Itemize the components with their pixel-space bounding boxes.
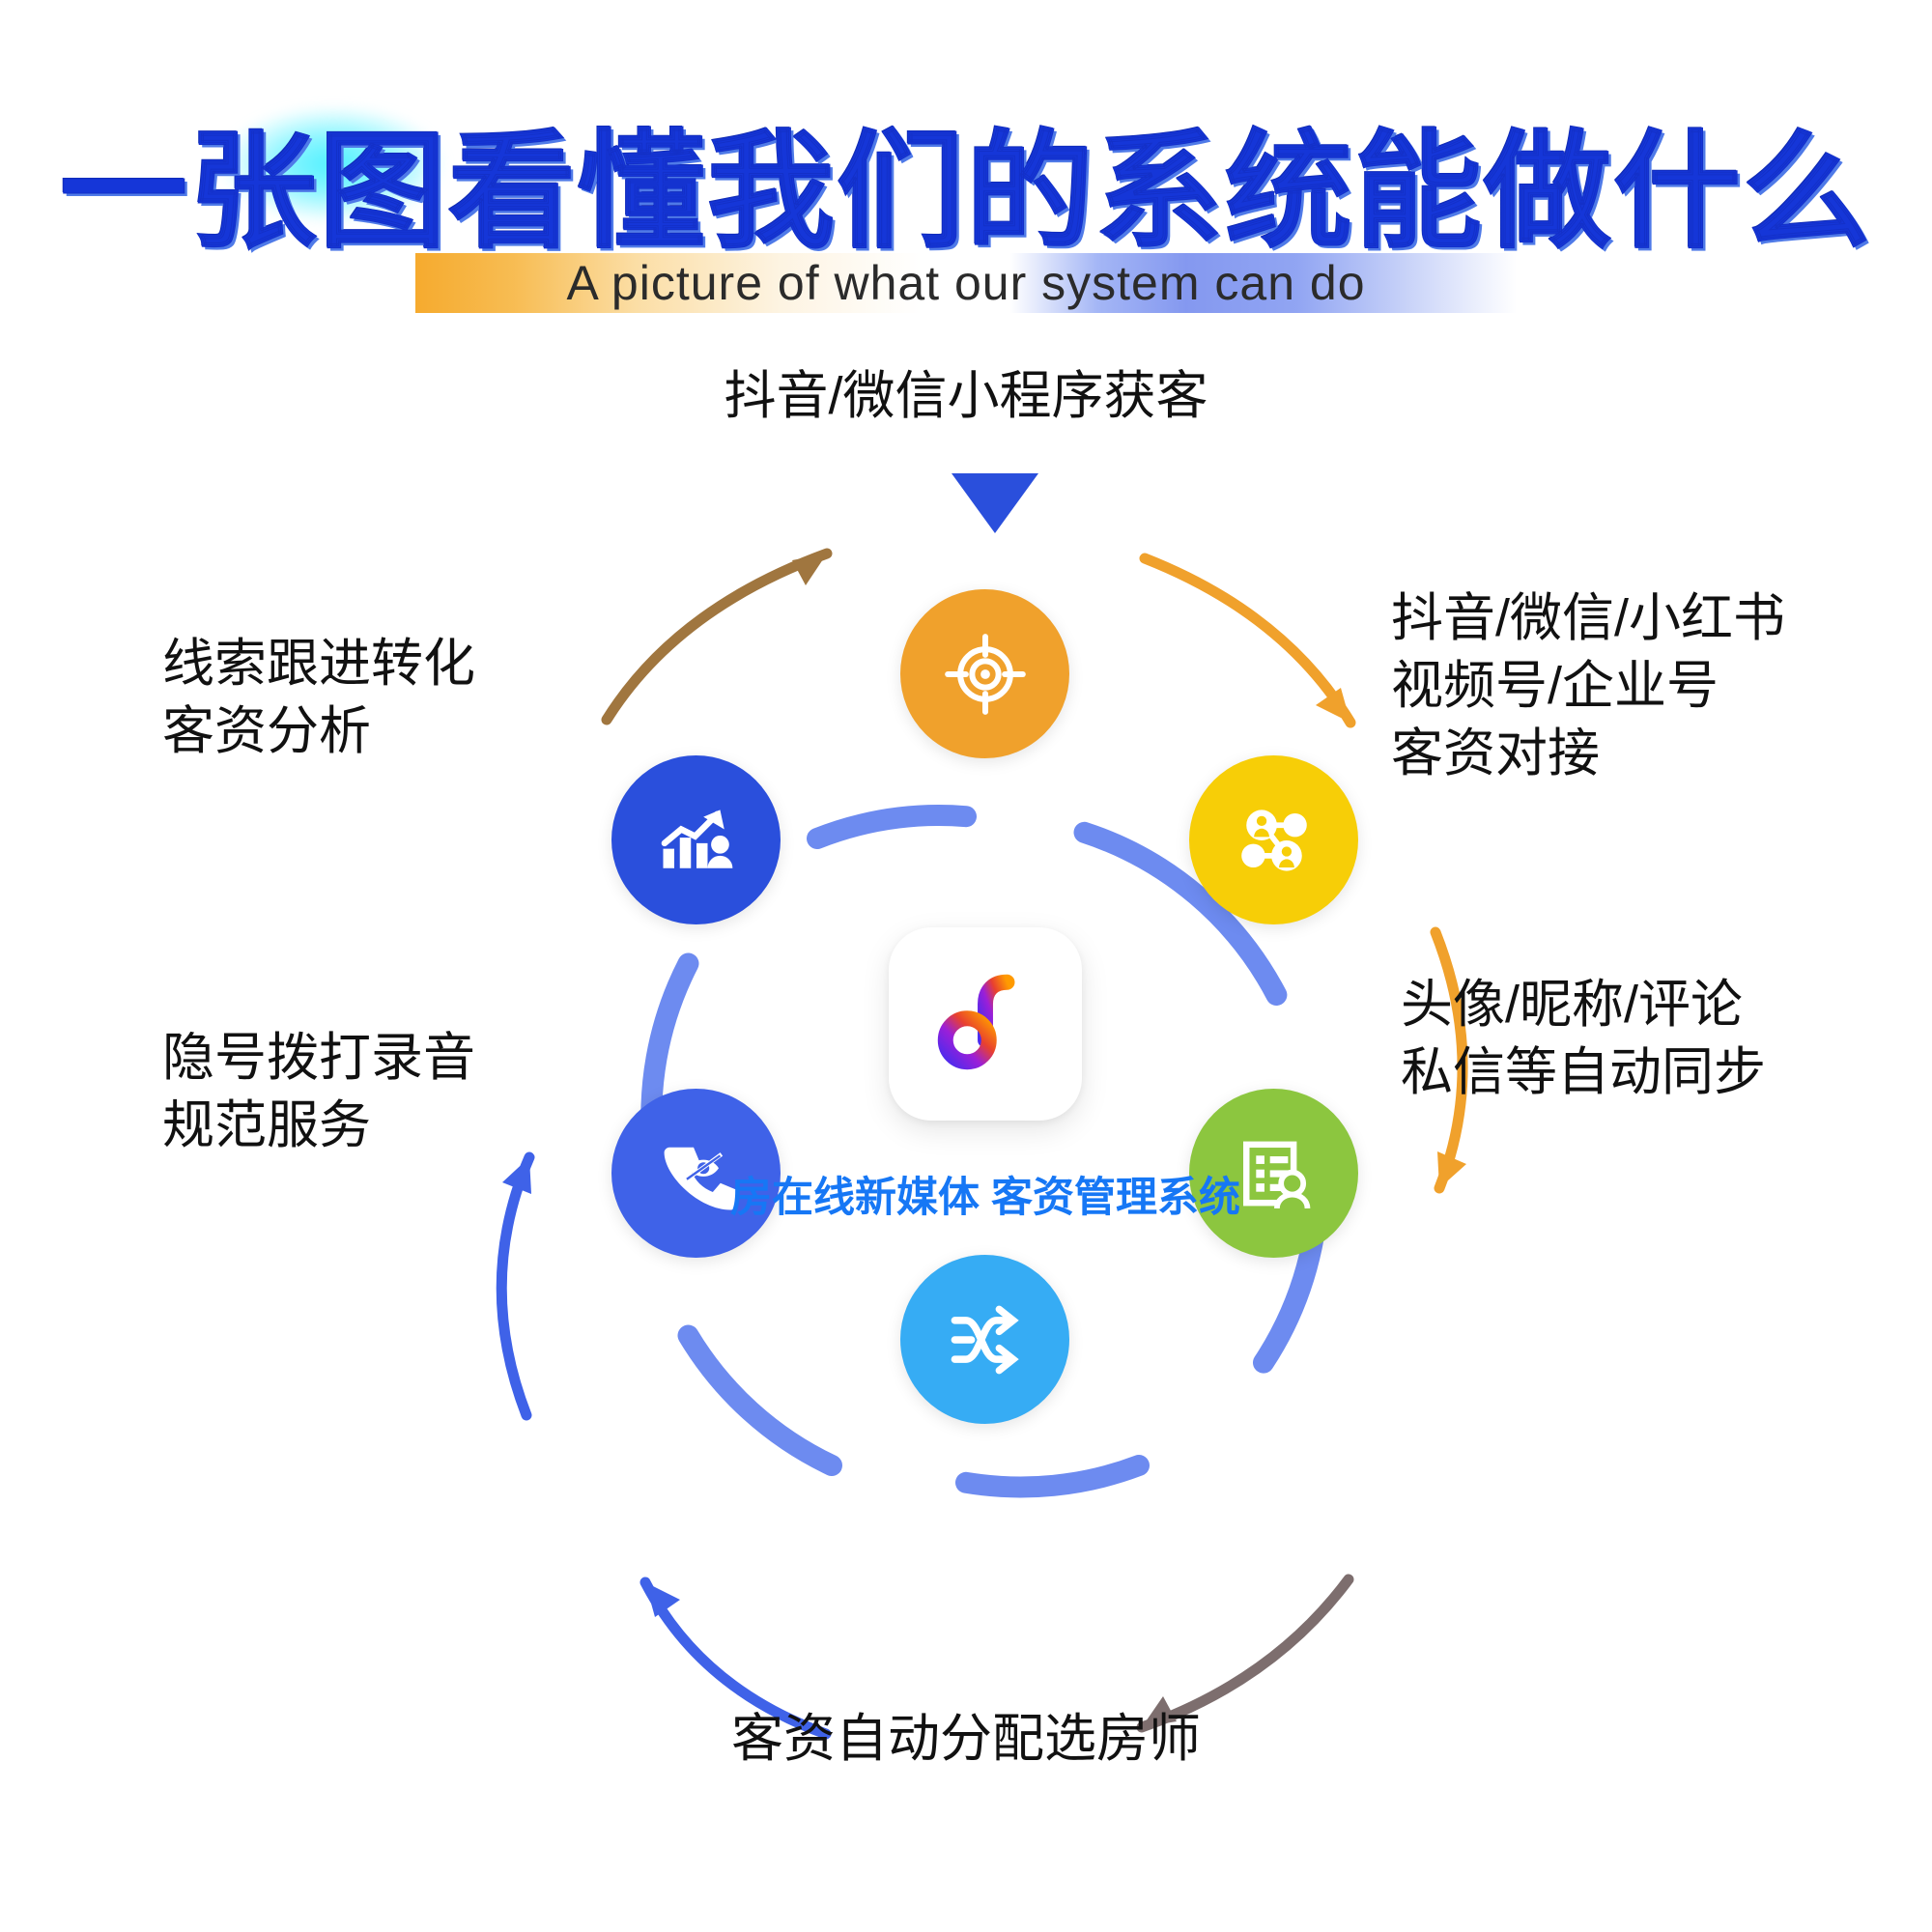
label-connect-line-3: 客资对接 — [1391, 720, 1785, 787]
label-sync-line-2: 私信等自动同步 — [1401, 1038, 1766, 1106]
flow-arrow-acquire-to-connect — [1145, 558, 1350, 723]
label-analyze-line-1: 线索跟进转化 — [162, 630, 475, 697]
entry-triangle-icon — [952, 473, 1038, 533]
label-analyze: 线索跟进转化 客资分析 — [162, 630, 475, 765]
label-acquire: 抖音/微信小程序获客 — [0, 362, 1932, 430]
flow-arrow-head-1 — [792, 554, 827, 585]
center-brand-title: 房在线新媒体 客资管理系统 — [730, 1169, 1240, 1228]
center-brand-line-1: 房在线新媒体 — [730, 1175, 980, 1221]
node-analyze[interactable] — [611, 755, 781, 924]
label-analyze-line-2: 客资分析 — [162, 697, 475, 765]
label-sync-line-1: 头像/昵称/评论 — [1401, 971, 1766, 1038]
label-call-line-2: 规范服务 — [162, 1092, 475, 1159]
label-assign: 客资自动分配选房师 — [0, 1705, 1932, 1773]
header: 一张图看懂我们的系统能做什么 A picture of what our sys… — [0, 0, 1932, 415]
logo-card — [889, 927, 1082, 1121]
df-logo-icon — [927, 964, 1043, 1085]
label-acquire-line-1: 抖音/微信小程序获客 — [0, 362, 1932, 430]
subtitle-text: A picture of what our system can do — [0, 255, 1932, 311]
target-crosshair-icon — [941, 630, 1030, 719]
cycle-diagram: 房在线新媒体 客资管理系统 抖音/微信小程序获客 抖音/微信/小红书 视频号/企… — [0, 415, 1932, 1932]
label-connect: 抖音/微信/小红书 视频号/企业号 客资对接 — [1391, 584, 1785, 788]
node-connect[interactable] — [1189, 755, 1358, 924]
label-call: 隐号拨打录音 规范服务 — [162, 1024, 475, 1159]
label-connect-line-1: 抖音/微信/小红书 — [1391, 584, 1785, 652]
subtitle-container: A picture of what our system can do — [0, 253, 1932, 317]
label-assign-line-1: 客资自动分配选房师 — [0, 1705, 1932, 1773]
node-acquire[interactable] — [900, 589, 1069, 758]
main-title: 一张图看懂我们的系统能做什么 — [0, 89, 1932, 273]
phone-hidden-number-icon — [652, 1129, 741, 1218]
ring-arc-3 — [966, 1465, 1139, 1487]
chart-growth-person-icon — [652, 796, 741, 885]
flow-arrow-analyze-to-acquire — [607, 554, 827, 720]
label-call-line-1: 隐号拨打录音 — [162, 1024, 475, 1092]
document-list-person-icon — [1230, 1129, 1319, 1218]
label-sync: 头像/昵称/评论 私信等自动同步 — [1401, 971, 1766, 1106]
label-connect-line-2: 视频号/企业号 — [1391, 652, 1785, 720]
network-share-users-icon — [1230, 796, 1319, 885]
center-brand-block: 房在线新媒体 客资管理系统 — [792, 927, 1179, 1391]
ring-arc-6 — [817, 815, 966, 838]
flow-arrow-call-to-analyze — [501, 1157, 529, 1415]
center-brand-line-2: 客资管理系统 — [991, 1175, 1240, 1221]
